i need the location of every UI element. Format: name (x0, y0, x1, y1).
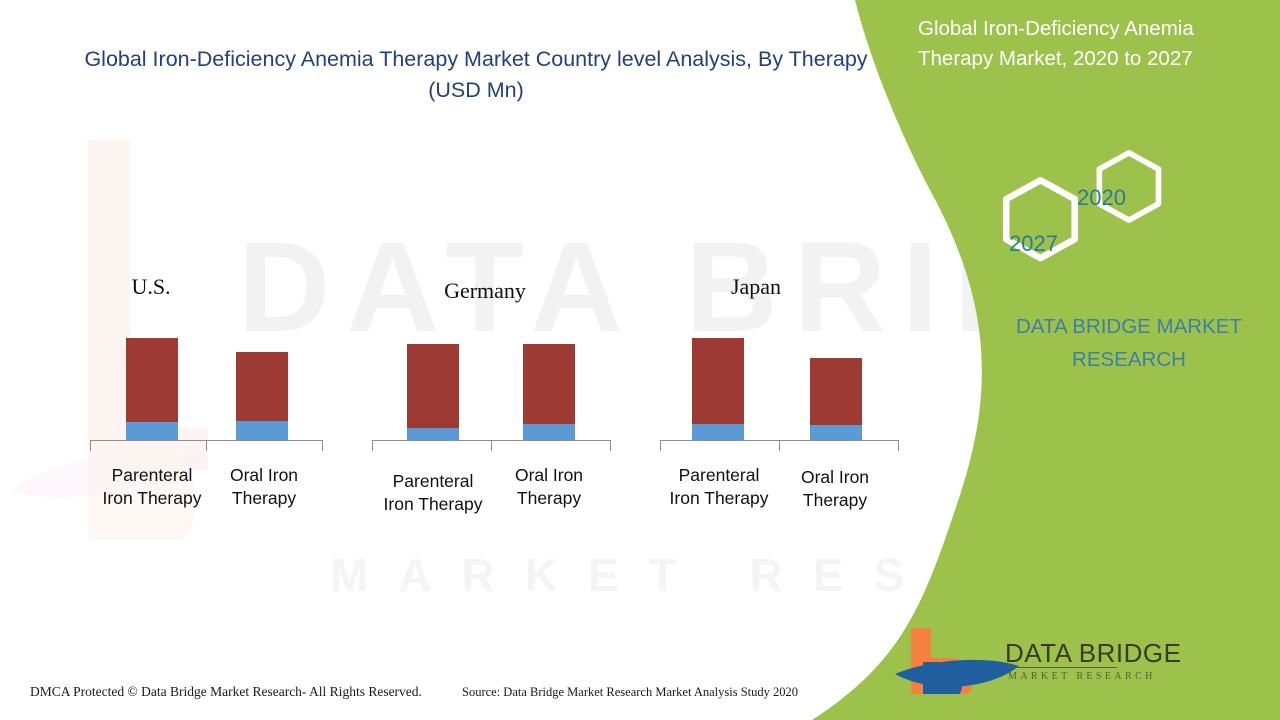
logo-wordmark: DATA BRIDGE (1005, 638, 1181, 669)
axis-tick (779, 440, 780, 451)
axis-tick (660, 440, 661, 451)
bar-segment-2027 (236, 352, 288, 421)
stacked-bar (126, 338, 178, 440)
stacked-bar (407, 344, 459, 440)
category-label: Oral Iron Therapy (779, 466, 891, 512)
footer-copyright: DMCA Protected © Data Bridge Market Rese… (30, 684, 422, 700)
footer-source: Source: Data Bridge Market Research Mark… (462, 685, 798, 700)
bar-segment-2020 (407, 428, 459, 440)
stacked-bar (692, 338, 744, 440)
stacked-bar (523, 344, 575, 440)
group-label-japan: Japan (712, 274, 800, 300)
logo-divider (1005, 667, 1117, 668)
badge-year-2020: 2020 (1077, 185, 1126, 211)
axis-tick (898, 440, 899, 451)
panel-title: Global Iron-Deficiency Anemia Therapy Ma… (918, 14, 1268, 74)
bar-segment-2027 (126, 338, 178, 422)
bar-segment-2027 (692, 338, 744, 424)
bar-segment-2027 (810, 358, 862, 425)
group-label-us: U.S. (96, 274, 206, 300)
bar-segment-2020 (126, 422, 178, 440)
axis-tick (322, 440, 323, 451)
category-label: Parenteral Iron Therapy (96, 464, 208, 510)
axis-tick (90, 440, 91, 451)
brand-name-text: DATA BRIDGE MARKET RESEARCH (985, 310, 1273, 376)
axis-tick (372, 440, 373, 451)
bar-segment-2027 (523, 344, 575, 424)
badge-year-2027: 2027 (1009, 231, 1058, 257)
group-label-germany: Germany (430, 278, 540, 304)
bar-segment-2020 (692, 424, 744, 440)
bar-segment-2020 (810, 425, 862, 440)
axis-tick (206, 440, 207, 451)
year-badges: 2020 2027 (985, 145, 1185, 285)
infographic-canvas: DATA BRIDGE MARKET RESEARCH Global Iron-… (0, 0, 1280, 720)
stacked-bar (236, 352, 288, 440)
grouped-stacked-bar-chart: U.S.GermanyJapanParenteral Iron TherapyO… (0, 0, 900, 620)
axis-tick (491, 440, 492, 451)
category-label: Parenteral Iron Therapy (663, 464, 775, 510)
bar-segment-2027 (407, 344, 459, 428)
category-label: Oral Iron Therapy (208, 464, 320, 510)
bar-segment-2020 (523, 424, 575, 440)
axis-tick (610, 440, 611, 451)
category-label: Oral Iron Therapy (493, 464, 605, 510)
stacked-bar (810, 358, 862, 440)
bar-segment-2020 (236, 421, 288, 440)
category-label: Parenteral Iron Therapy (377, 470, 489, 516)
logo-tagline: MARKET RESEARCH (1008, 671, 1156, 682)
hexagon-outline-icons (985, 145, 1185, 285)
